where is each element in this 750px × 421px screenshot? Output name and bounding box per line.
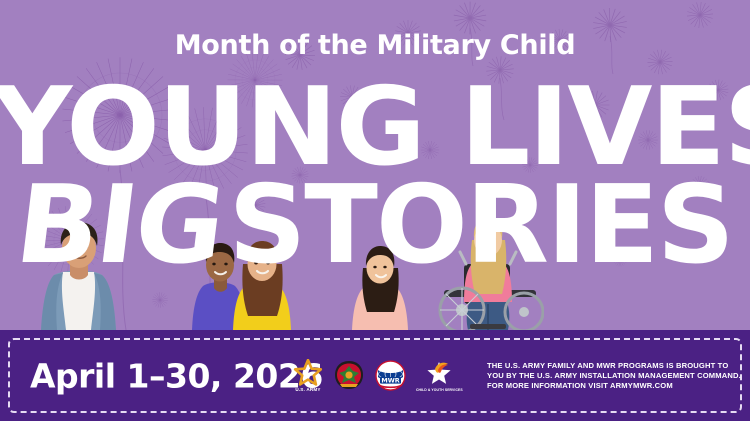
headline-line-2: BIGSTORIES	[0, 176, 750, 276]
us-army-star-logo: U.S. ARMY	[293, 359, 323, 392]
disclaimer-line-2: YOU BY THE U.S. ARMY INSTALLATION MANAGE…	[487, 371, 727, 381]
disclaimer-line-3: FOR MORE INFORMATION VISIT ARMYMWR.COM	[487, 381, 727, 391]
cys-logo-label: CHILD & YOUTH SERVICES	[416, 388, 463, 392]
disclaimer-text: THE U.S. ARMY FAMILY AND MWR PROGRAMS IS…	[487, 361, 727, 391]
mwr-logo-text: MWR	[381, 377, 399, 385]
kicker-text: Month of the Military Child	[0, 30, 750, 61]
month-of-military-child-banner: Month of the Military Child YOUNG LIVES …	[0, 0, 750, 421]
us-army-logo-label: U.S. ARMY	[295, 387, 320, 392]
disclaimer-line-1: THE U.S. ARMY FAMILY AND MWR PROGRAMS IS…	[487, 361, 727, 371]
child-youth-services-logo: CHILD & YOUTH SERVICES	[416, 359, 463, 393]
logo-group: U.S. ARMY	[293, 359, 463, 393]
imcom-crest-logo	[333, 361, 365, 391]
headline-word-stories: STORIES	[228, 176, 732, 276]
event-date: April 1–30, 2026	[30, 356, 323, 395]
headline-area: Month of the Military Child YOUNG LIVES …	[0, 0, 750, 330]
footer-bar: April 1–30, 2026 U.S. ARMY	[0, 330, 750, 421]
headline-word-big: BIG	[11, 176, 228, 276]
army-mwr-globe-logo: MWR	[375, 360, 406, 391]
